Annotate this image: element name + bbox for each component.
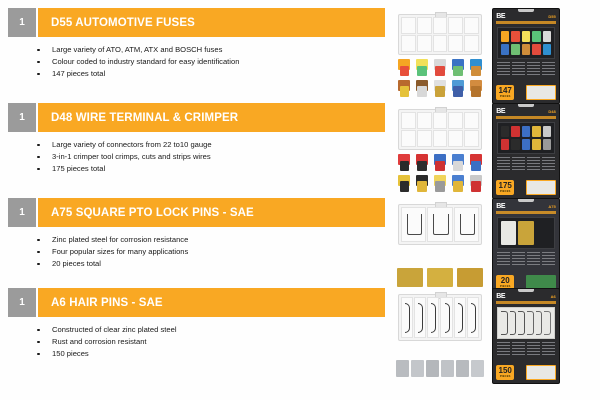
pack-sku-code: D55 <box>548 14 555 19</box>
case-lid <box>398 14 483 55</box>
product-header-a6: 1 A6 HAIR PINS - SAE <box>8 288 385 317</box>
piece-count-number: 150 <box>496 367 514 375</box>
list-item: 147 pieces total <box>37 68 239 80</box>
feature-list-d48: Large variety of connectors from 22 to10… <box>37 139 212 175</box>
product-number-badge: 1 <box>8 198 36 227</box>
product-title-bar: D55 AUTOMOTIVE FUSES <box>38 8 385 37</box>
pack-sku-code: D48 <box>548 109 555 114</box>
piece-count-label: PIECES <box>496 190 514 193</box>
pack-accent-strip <box>496 116 557 119</box>
pack-accent-strip <box>496 211 557 214</box>
product-photo-open-case: Open plastic organizer case filled with … <box>394 8 486 100</box>
feature-list-a75: Zinc plated steel for corrosion resistan… <box>37 234 188 270</box>
pack-spec-text <box>497 157 555 178</box>
list-item: 150 pieces <box>37 348 177 360</box>
list-item: Rust and corrosion resistant <box>37 336 177 348</box>
list-item: 3-in-1 crimper tool crimps, cuts and str… <box>37 151 212 163</box>
pack-spec-text <box>497 252 555 273</box>
pack-sku-code: A6 <box>551 294 556 299</box>
pack-accent-strip <box>496 21 557 24</box>
pack-spec-text <box>497 342 555 363</box>
product-title: A6 HAIR PINS - SAE <box>51 297 163 309</box>
piece-count-badge: 150 PIECES <box>496 365 514 380</box>
pack-product-window <box>497 307 555 339</box>
hang-tab-icon <box>518 103 534 107</box>
product-title-bar: D48 WIRE TERMINAL & CRIMPER <box>38 103 385 132</box>
feature-list-d55: Large variety of ATO, ATM, ATX and BOSCH… <box>37 44 239 80</box>
product-header-d55: 1 D55 AUTOMOTIVE FUSES <box>8 8 385 37</box>
product-number-badge: 1 <box>8 288 36 317</box>
list-item: Four popular sizes for many applications <box>37 246 188 258</box>
product-header-d48: 1 D48 WIRE TERMINAL & CRIMPER <box>8 103 385 132</box>
list-item: Zinc plated steel for corrosion resistan… <box>37 234 188 246</box>
product-title: D48 WIRE TERMINAL & CRIMPER <box>51 112 238 124</box>
product-title: D55 AUTOMOTIVE FUSES <box>51 17 195 29</box>
case-base-compartments <box>396 248 484 288</box>
brand-logo: BE <box>496 203 505 210</box>
list-item: Large variety of ATO, ATM, ATX and BOSCH… <box>37 44 239 56</box>
product-photos-a75: Open three-compartment case with gold zi… <box>392 198 598 293</box>
product-photo-retail-pack: Dark retail blister pack of hair pin ass… <box>492 288 558 382</box>
hang-tab-icon <box>518 288 534 292</box>
product-photo-retail-pack: Dark retail blister pack of square PTO l… <box>492 198 558 292</box>
case-base-compartments <box>396 153 484 193</box>
product-photo-retail-pack: Dark retail blister pack of wire termina… <box>492 103 558 197</box>
piece-count-number: 20 <box>496 277 514 285</box>
product-title: A75 SQUARE PTO LOCK PINS - SAE <box>51 207 254 219</box>
product-photos-a6: Open six-compartment case filled with si… <box>392 288 598 383</box>
case-lid <box>398 294 483 342</box>
product-photo-open-case: Open six-compartment case filled with si… <box>394 288 486 380</box>
case-base-compartments <box>396 341 484 378</box>
product-photo-retail-pack: Dark retail blister pack of automotive f… <box>492 8 558 102</box>
pack-side-label <box>526 180 556 195</box>
list-item: Constructed of clear zinc plated steel <box>37 324 177 336</box>
feature-list-a6: Constructed of clear zinc plated steel R… <box>37 324 177 360</box>
product-photo-open-case: Open three-compartment case with gold zi… <box>394 198 486 290</box>
brand-logo: BE <box>496 293 505 300</box>
brand-logo: BE <box>496 13 505 20</box>
piece-count-label: PIECES <box>496 95 514 98</box>
list-item: Large variety of connectors from 22 to10… <box>37 139 212 151</box>
piece-count-badge: 147 PIECES <box>496 85 514 100</box>
product-header-a75: 1 A75 SQUARE PTO LOCK PINS - SAE <box>8 198 385 227</box>
pack-product-window <box>497 122 555 154</box>
product-photos-d48: Open organizer case with wire terminals,… <box>392 103 598 198</box>
list-item: 20 pieces total <box>37 258 188 270</box>
piece-count-label: PIECES <box>496 375 514 378</box>
piece-count-badge: 175 PIECES <box>496 180 514 195</box>
hang-tab-icon <box>518 8 534 12</box>
pack-accent-strip <box>496 301 557 304</box>
list-item: 175 pieces total <box>37 163 212 175</box>
case-lid <box>398 204 483 245</box>
product-number-badge: 1 <box>8 8 36 37</box>
piece-count-number: 147 <box>496 87 514 95</box>
pack-product-window <box>497 217 555 249</box>
product-title-bar: A75 SQUARE PTO LOCK PINS - SAE <box>38 198 385 227</box>
pack-product-window <box>497 27 555 59</box>
brand-logo: BE <box>496 108 505 115</box>
case-base-compartments <box>396 58 484 98</box>
pack-side-label <box>526 85 556 100</box>
hang-tab-icon <box>518 198 534 202</box>
piece-count-number: 175 <box>496 182 514 190</box>
case-lid <box>398 109 483 150</box>
pack-side-label <box>526 365 556 380</box>
product-photos-d55: Open plastic organizer case filled with … <box>392 8 598 103</box>
list-item: Colour coded to industry standard for ea… <box>37 56 239 68</box>
product-photo-open-case: Open organizer case with wire terminals,… <box>394 103 486 195</box>
product-number-badge: 1 <box>8 103 36 132</box>
product-catalog-page: 1 D55 AUTOMOTIVE FUSES Large variety of … <box>0 0 600 400</box>
pack-spec-text <box>497 62 555 83</box>
product-title-bar: A6 HAIR PINS - SAE <box>38 288 385 317</box>
pack-sku-code: A75 <box>548 204 555 209</box>
